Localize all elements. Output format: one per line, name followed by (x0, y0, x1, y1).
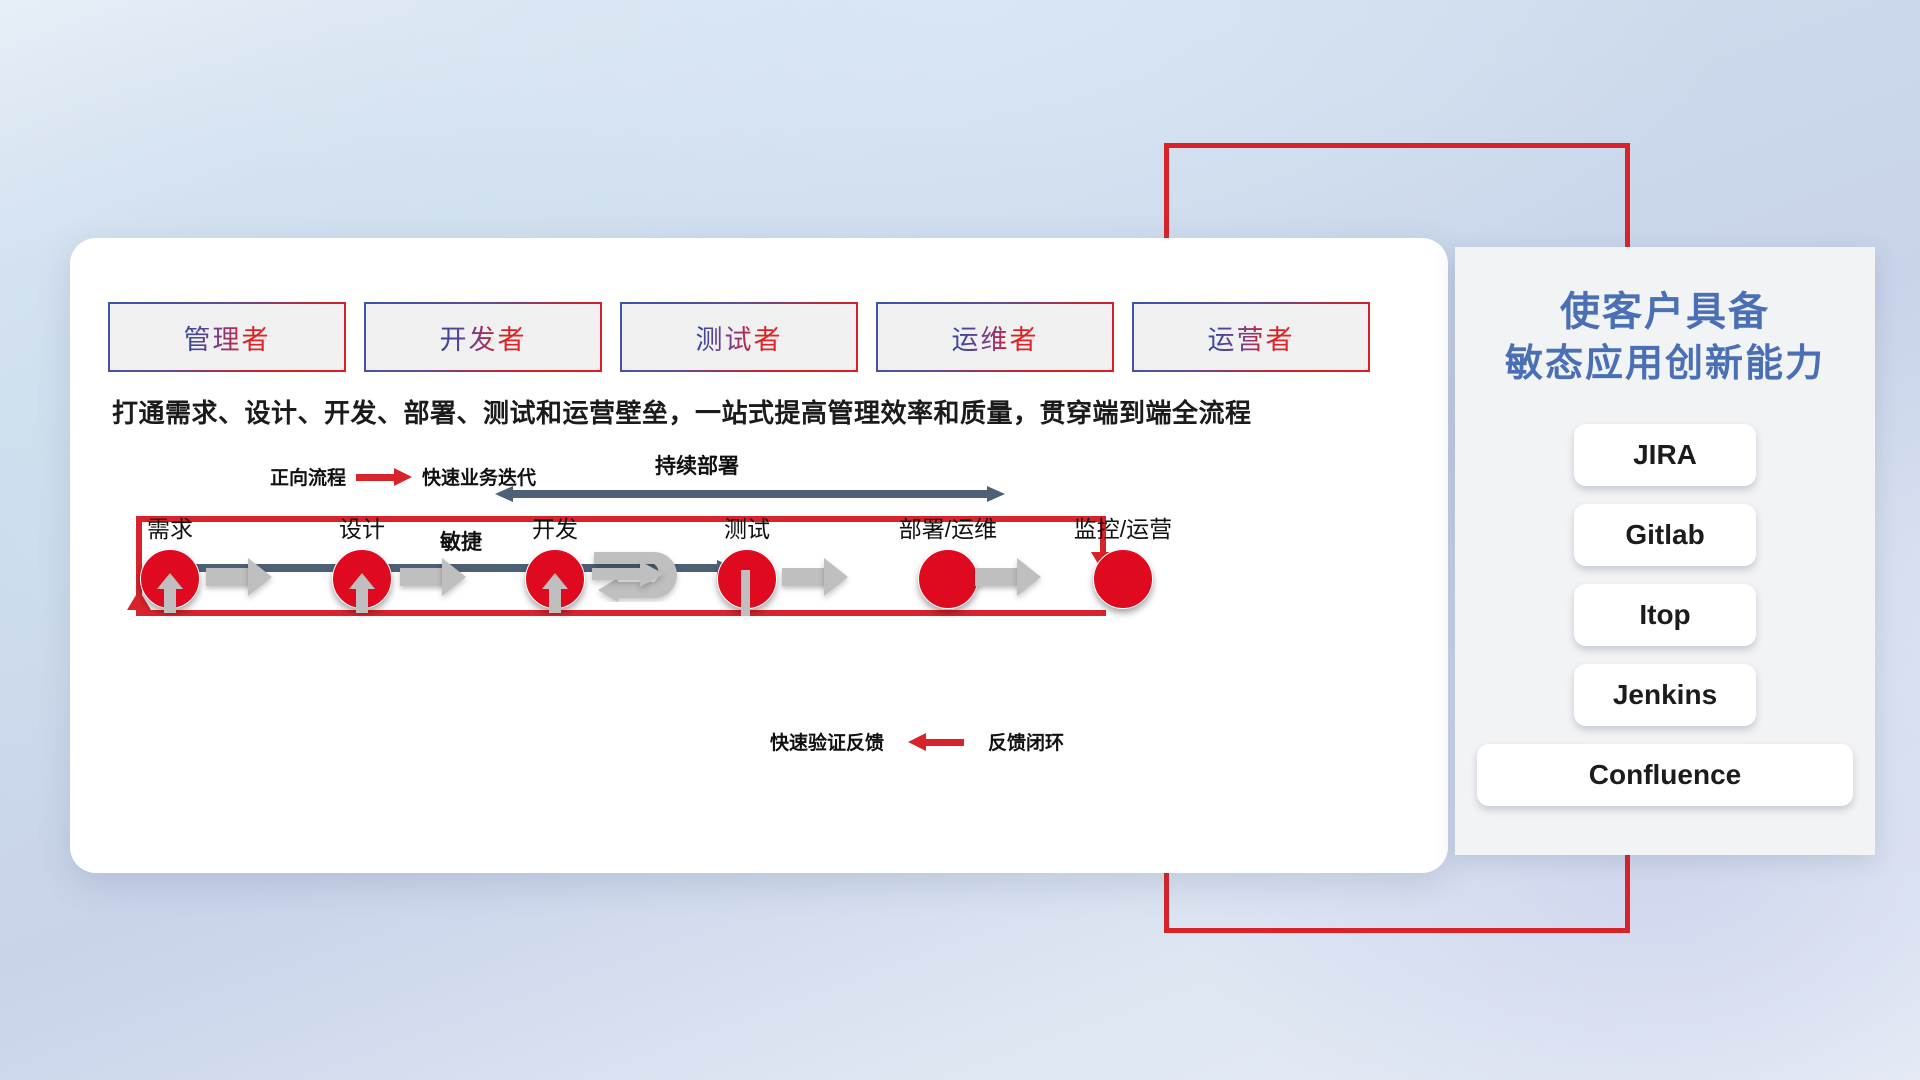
role-box-developer[interactable]: 开发者 (366, 304, 600, 370)
role-label: 开发者 (440, 318, 527, 357)
pipeline-node-label: 需求 (108, 510, 232, 544)
red-connector-top (1164, 143, 1630, 148)
description-text: 打通需求、设计、开发、部署、测试和运营壁垒，一站式提高管理效率和质量，贯穿端到端… (112, 393, 1412, 430)
step-arrow-icon-5 (975, 558, 1041, 596)
pipeline-node-label: 部署/运维 (868, 510, 1028, 544)
node-stem-test (741, 570, 750, 616)
role-box-tester[interactable]: 测试者 (622, 304, 856, 370)
pipeline-node-label: 开发 (493, 510, 617, 544)
feedback-up-arrow-icon-1 (157, 573, 183, 613)
tool-chip-label: Itop (1639, 599, 1690, 631)
step-arrow-icon-4 (782, 558, 848, 596)
pipeline-node-label: 设计 (300, 510, 424, 544)
tool-chip-itop[interactable]: Itop (1574, 584, 1756, 646)
legend-feedback-loop: 快速验证反馈 反馈闭环 (770, 728, 1064, 755)
tool-chip-label: Confluence (1589, 759, 1741, 791)
panel-title-line2: 敏态应用创新能力 (1455, 339, 1875, 390)
arrow-left-red-icon (908, 736, 964, 748)
tool-chip-confluence[interactable]: Confluence (1477, 744, 1853, 806)
arrow-right-red-icon (356, 471, 412, 483)
pipeline-node-dot (918, 549, 978, 609)
role-label: 运营者 (1208, 318, 1295, 357)
tool-chip-jira[interactable]: JIRA (1574, 424, 1756, 486)
cycle-path-bottom (136, 610, 1106, 616)
main-card: 管理者 开发者 测试者 运维者 运营者 打通需求、设计、开发、部署、测试和运营壁… (70, 238, 1448, 873)
panel-title: 使客户具备 敏态应用创新能力 (1455, 247, 1875, 390)
step-arrow-icon-2 (400, 558, 466, 596)
loop-u-turn-icon (588, 548, 682, 602)
pipeline-node-monitor-operate[interactable]: 监控/运营 (1043, 510, 1203, 609)
pipeline-node-dot (1093, 549, 1153, 609)
continuous-deployment-span (495, 486, 1005, 502)
tool-chip-list: JIRA Gitlab Itop Jenkins Confluence (1455, 390, 1875, 806)
role-label: 运维者 (952, 318, 1039, 357)
legend-feedback-right-label: 反馈闭环 (988, 728, 1064, 755)
role-box-operations[interactable]: 运营者 (1134, 304, 1368, 370)
tool-chip-gitlab[interactable]: Gitlab (1574, 504, 1756, 566)
tool-chip-label: Jenkins (1613, 679, 1717, 711)
tool-chip-label: JIRA (1633, 439, 1697, 471)
step-arrow-icon-1 (206, 558, 272, 596)
role-box-manager[interactable]: 管理者 (110, 304, 344, 370)
feedback-up-arrow-icon-2 (349, 573, 375, 613)
role-label: 测试者 (696, 318, 783, 357)
pipeline-node-label: 测试 (685, 510, 809, 544)
tool-chip-label: Gitlab (1625, 519, 1704, 551)
diagram-stage: 管理者 开发者 测试者 运维者 运营者 打通需求、设计、开发、部署、测试和运营壁… (0, 0, 1920, 1080)
role-box-ops[interactable]: 运维者 (878, 304, 1112, 370)
pipeline-node-label: 监控/运营 (1043, 510, 1203, 544)
agile-caption: 敏捷 (440, 526, 482, 556)
continuous-deployment-caption: 持续部署 (655, 450, 739, 480)
panel-title-line1: 使客户具备 (1455, 285, 1875, 339)
role-box-row: 管理者 开发者 测试者 运维者 运营者 (110, 304, 1368, 370)
legend-forward-left-label: 正向流程 (270, 463, 346, 490)
role-label: 管理者 (184, 318, 271, 357)
red-connector-bottom (1164, 928, 1630, 933)
legend-feedback-left-label: 快速验证反馈 (770, 728, 884, 755)
feedback-up-arrow-icon-3 (542, 573, 568, 613)
tool-chip-jenkins[interactable]: Jenkins (1574, 664, 1756, 726)
value-panel: 使客户具备 敏态应用创新能力 JIRA Gitlab Itop Jenkins … (1455, 247, 1875, 855)
